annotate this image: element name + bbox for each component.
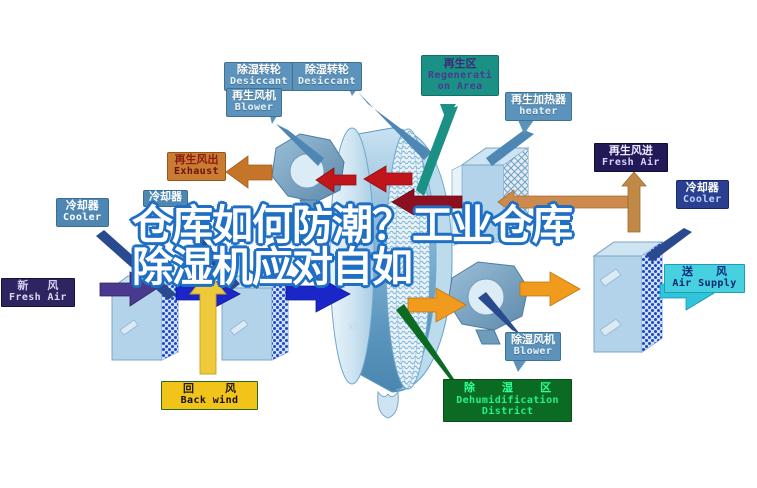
desiccant-rotor: xin xyxy=(330,128,452,418)
cooler-right-en: Cooler xyxy=(683,195,722,206)
dehum-blower-cn: 除湿风机 xyxy=(511,335,555,347)
air-supply-cn: 送 风 xyxy=(672,267,737,279)
label-regen-blower-cn: 再生风机 xyxy=(232,91,276,103)
label-desiccant-box[interactable]: 除湿转轮 Desiccant xyxy=(292,62,362,91)
regen-heater-en: heater xyxy=(511,107,566,118)
fresh-air-en: Fresh Air xyxy=(9,293,67,304)
regen-area-en2: on Area xyxy=(428,81,492,92)
cooler-left-cn: 冷却器 xyxy=(63,201,102,213)
regen-heater-cn: 再生加热器 xyxy=(511,95,566,107)
label-regeneration-area[interactable]: 再生区 Regenerati on Area xyxy=(421,55,499,96)
regen-area-en1: Regenerati xyxy=(428,70,492,81)
svg-text:xin: xin xyxy=(348,319,363,333)
exhaust-en: Exhaust xyxy=(174,167,219,178)
label-exhaust[interactable]: 再生风出 Exhaust xyxy=(167,152,226,181)
desiccant-cn-text: 除湿转轮 xyxy=(298,65,356,77)
label-desiccant[interactable]: 除湿转轮 Desiccant xyxy=(224,62,294,91)
label-cooler-right[interactable]: 冷却器 Cooler xyxy=(676,180,729,209)
regen-fresh-air-cn: 再生风进 xyxy=(602,146,660,158)
back-wind-arrow xyxy=(190,272,226,374)
regen-area-cn: 再生区 xyxy=(428,58,492,70)
diagram-canvas: xin xyxy=(0,0,757,488)
label-dehumidification-district[interactable]: 除 湿 区 Dehumidification District xyxy=(443,379,572,422)
back-wind-cn: 回 风 xyxy=(169,384,250,396)
label-dehum-blower[interactable]: 除湿风机 Blower xyxy=(505,332,561,361)
label-cooler-left[interactable]: 冷却器 Cooler xyxy=(56,198,109,227)
dehum-district-en2: District xyxy=(452,406,563,418)
cooler-right-cn: 冷却器 xyxy=(683,183,722,195)
label-fresh-air[interactable]: 新 风 Fresh Air xyxy=(1,278,75,307)
label-regen-blower-en: Blower xyxy=(232,103,276,114)
label-back-wind[interactable]: 回 风 Back wind xyxy=(161,381,258,410)
air-supply-en: Air Supply xyxy=(672,279,737,290)
fresh-air-cn: 新 风 xyxy=(9,281,67,293)
desiccant-en-text: Desiccant xyxy=(298,77,356,88)
regen-fresh-air-en: Fresh Air xyxy=(602,158,660,169)
label-desiccant-en: Desiccant xyxy=(230,77,288,88)
dry-air-arrow-2 xyxy=(520,272,580,306)
label-desiccant-cn: 除湿转轮 xyxy=(230,65,288,77)
label-cooler-mid[interactable]: 冷却器 xyxy=(143,190,188,207)
cooler-mid-cn: 冷却器 xyxy=(149,192,182,204)
dehum-blower-en: Blower xyxy=(511,347,555,358)
dehum-district-cn: 除 湿 区 xyxy=(452,382,563,395)
exhaust-arrow xyxy=(226,156,272,188)
label-regen-heater[interactable]: 再生加热器 heater xyxy=(505,92,572,121)
label-regen-fresh-air[interactable]: 再生风进 Fresh Air xyxy=(594,143,668,172)
label-regen-blower[interactable]: 再生风机 Blower xyxy=(226,88,282,117)
dehum-district-en1: Dehumidification xyxy=(452,395,563,407)
back-wind-en: Back wind xyxy=(169,396,250,407)
label-air-supply[interactable]: 送 风 Air Supply xyxy=(664,264,745,293)
cooler-left-en: Cooler xyxy=(63,213,102,224)
exhaust-cn: 再生风出 xyxy=(174,155,219,167)
